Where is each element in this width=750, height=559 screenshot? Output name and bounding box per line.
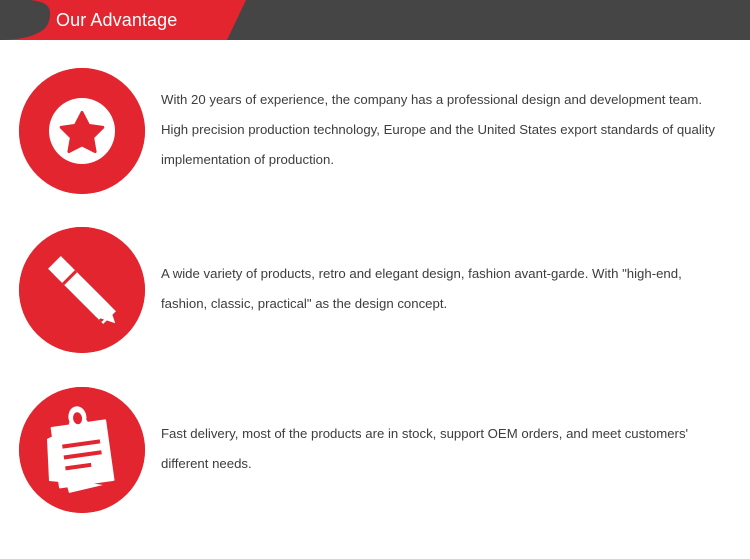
pencil-ruler-icon: [19, 227, 145, 353]
advantage-description: With 20 years of experience, the company…: [161, 85, 716, 175]
clipboard-document-icon: [19, 387, 145, 513]
clipboard-document-glyph: [19, 387, 145, 513]
star-badge-icon: [19, 68, 145, 194]
advantage-description: Fast delivery, most of the products are …: [161, 419, 716, 479]
page-title: Our Advantage: [56, 0, 177, 40]
star-badge-glyph: [19, 68, 145, 194]
page-header-banner: Our Advantage: [0, 0, 750, 40]
advantage-list: With 20 years of experience, the company…: [0, 0, 750, 559]
advantage-description: A wide variety of products, retro and el…: [161, 259, 716, 319]
pencil-ruler-glyph: [19, 227, 145, 353]
